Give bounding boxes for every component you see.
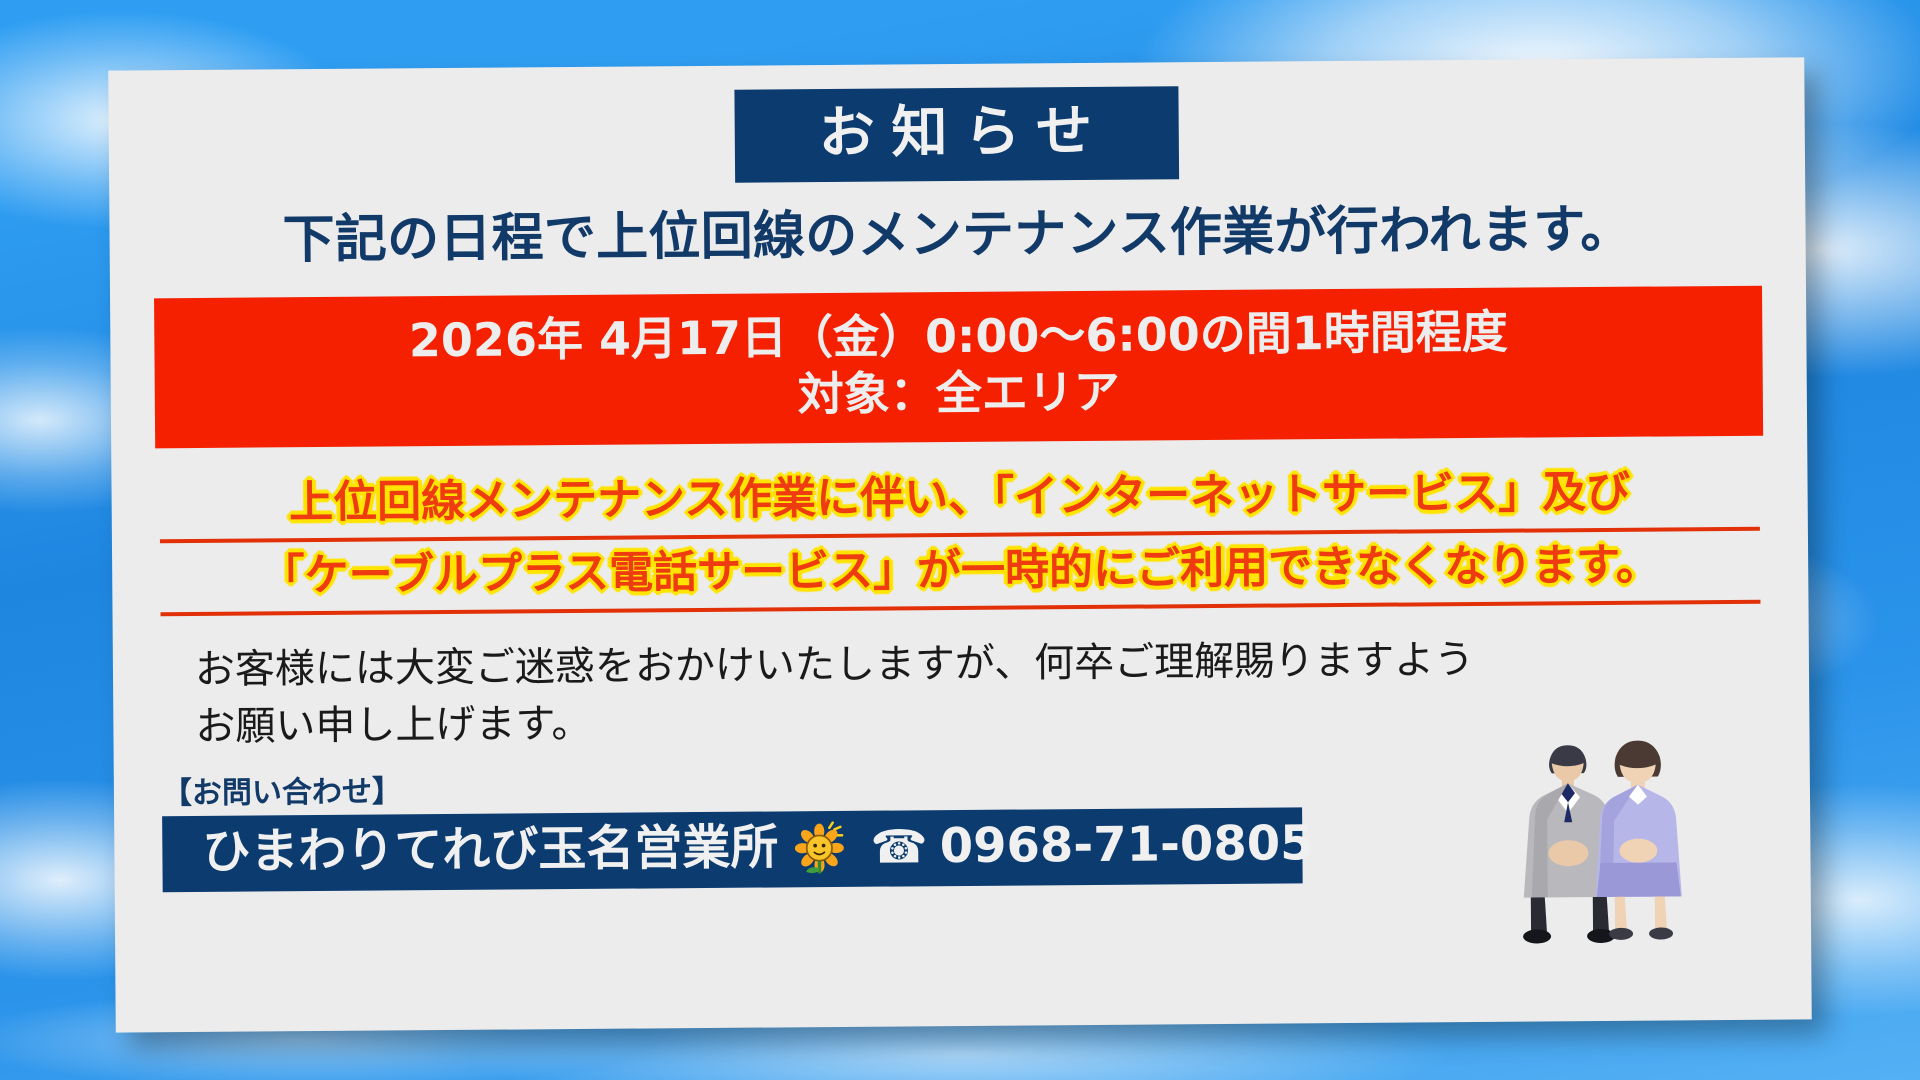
contact-office-name: ひまわりてれび玉名営業所 [202, 822, 778, 879]
telephone-icon: ☎ [870, 822, 928, 873]
service-impact-notice: 上位回線メンテナンス作業に伴い、「インターネットサービス」及び 「ケーブルプラス… [159, 458, 1760, 617]
contact-bar: ひまわりてれび玉名営業所 [162, 807, 1303, 892]
contact-phone-number: 0968-71-0805 [939, 818, 1313, 874]
impact-line-2: 「ケーブルプラス電話サービス」が一時的にご利用できなくなります。 [160, 531, 1760, 613]
headline-text: 下記の日程で上位回線のメンテナンス作業が行われます。 [147, 200, 1767, 270]
notice-card: お知らせ 下記の日程で上位回線のメンテナンス作業が行われます。 2026年 4月… [108, 57, 1812, 1032]
banner-row: お知らせ [146, 58, 1767, 188]
bowing-staff-illustration [1463, 712, 1715, 964]
maintenance-target-area: 対象：全エリア [165, 359, 1753, 429]
impact-line-1: 上位回線メンテナンス作業に伴い、「インターネットサービス」及び [159, 458, 1759, 540]
bowing-woman-figure [1595, 740, 1683, 940]
notice-title-banner: お知らせ [734, 86, 1179, 182]
sunflower-icon [792, 821, 846, 875]
maintenance-date-box: 2026年 4月17日（金）0:00～6:00の間1時間程度 対象：全エリア [154, 286, 1763, 449]
poster-canvas: お知らせ 下記の日程で上位回線のメンテナンス作業が行われます。 2026年 4月… [0, 0, 1920, 1080]
